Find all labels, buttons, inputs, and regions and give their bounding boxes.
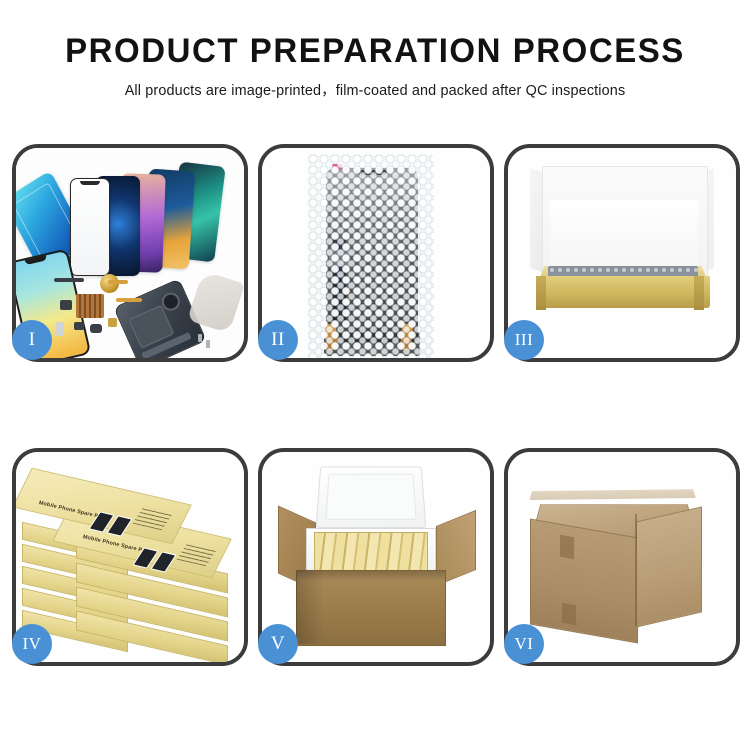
carton-handle-tab-upper — [560, 535, 574, 559]
carton-front-face — [530, 518, 638, 643]
carton-corner-seam — [635, 514, 637, 626]
page-title: PRODUCT PREPARATION PROCESS — [11, 34, 739, 70]
sealed-carton-scene — [508, 452, 736, 662]
phone-white-glass — [70, 178, 110, 276]
speaker-part — [60, 300, 72, 310]
carton-side-face — [636, 506, 702, 627]
screw-part-b — [206, 340, 210, 348]
page-subtitle: All products are image-printed，film-coat… — [0, 79, 750, 100]
step-badge-1: I — [12, 320, 52, 360]
carton-body-shading — [296, 570, 324, 644]
panel-1-image — [16, 148, 244, 358]
bubble-wrap-scene — [262, 148, 490, 358]
box-tray-front — [536, 276, 710, 308]
box-stack: Mobile Phone Spare Parts Mobile Phone Sp… — [22, 472, 244, 658]
box-tray-right-edge — [694, 276, 704, 310]
step-badge-3: III — [504, 320, 544, 360]
phone-parts-scene — [16, 148, 244, 358]
packing-tape — [530, 489, 696, 500]
stacked-boxes-scene: Mobile Phone Spare Parts Mobile Phone Sp… — [16, 452, 244, 662]
page-header: PRODUCT PREPARATION PROCESS All products… — [0, 0, 750, 100]
bubble-texture — [308, 154, 434, 358]
process-step-panel-2[interactable]: II — [258, 144, 494, 362]
panel-3-image — [508, 148, 736, 358]
step-badge-6: VI — [504, 624, 544, 664]
process-step-panel-5[interactable]: V — [258, 448, 494, 666]
process-step-panel-6[interactable]: VI — [504, 448, 740, 666]
screw-part-a — [198, 334, 202, 342]
bubble-wrap-bag — [308, 154, 434, 358]
process-step-panel-4[interactable]: Mobile Phone Spare Parts Mobile Phone Sp… — [12, 448, 248, 666]
panel-2-image — [262, 148, 490, 358]
open-kraft-box-scene — [508, 148, 736, 358]
panel-5-image — [262, 452, 490, 662]
step-badge-2: II — [258, 320, 298, 360]
carton-handle-tab-lower — [562, 603, 576, 625]
panel-6-image — [508, 452, 736, 662]
box-tray-left-edge — [536, 276, 546, 310]
flex-cable-part-b — [116, 298, 142, 302]
process-step-panel-3[interactable]: III — [504, 144, 740, 362]
carton-packing-scene — [262, 452, 490, 662]
earpiece-part — [90, 324, 102, 333]
process-step-grid: I II — [12, 144, 740, 666]
styrofoam-lid-inset — [325, 474, 416, 520]
button-part — [74, 322, 84, 330]
chip-array-part — [76, 294, 104, 318]
styrofoam-lid — [316, 467, 427, 529]
screw-kit-part — [108, 318, 117, 327]
process-step-panel-1[interactable]: I — [12, 144, 248, 362]
sim-tray-part — [56, 322, 64, 336]
antenna-strip-part — [54, 278, 84, 282]
flex-cable-part-a — [108, 280, 128, 284]
step-badge-5: V — [258, 624, 298, 664]
step-badge-4: IV — [12, 624, 52, 664]
panel-4-image: Mobile Phone Spare Parts Mobile Phone Sp… — [16, 452, 244, 662]
